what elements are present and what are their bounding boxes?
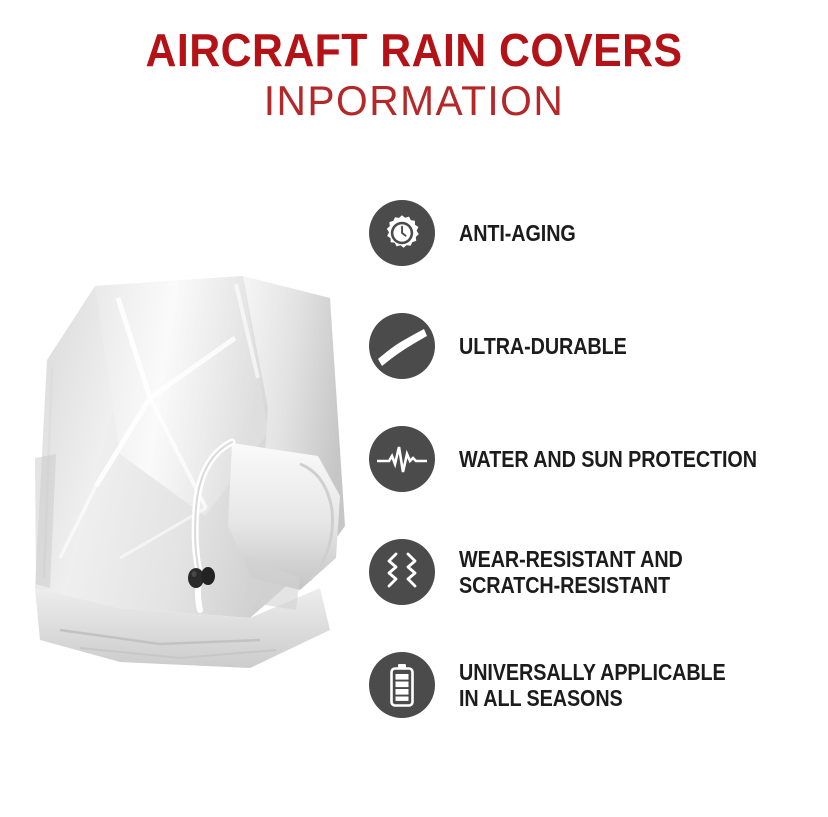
feature-item: ULTRA-DURABLE bbox=[369, 313, 809, 426]
feature-label-line: IN ALL SEASONS bbox=[459, 685, 726, 711]
feature-list: ANTI-AGING ULTRA-DURABLE WATER AND SUN P… bbox=[369, 200, 809, 765]
page-title: AIRCRAFT RAIN COVERS bbox=[29, 0, 799, 74]
feature-label-line: WATER AND SUN PROTECTION bbox=[459, 446, 757, 472]
feature-label: WEAR-RESISTANT AND SCRATCH-RESISTANT bbox=[459, 539, 683, 605]
battery-icon bbox=[369, 652, 435, 718]
feature-label-line: ANTI-AGING bbox=[459, 220, 576, 246]
feature-label-line: ULTRA-DURABLE bbox=[459, 333, 627, 359]
feature-item: UNIVERSALLY APPLICABLE IN ALL SEASONS bbox=[369, 652, 809, 765]
feature-label: WATER AND SUN PROTECTION bbox=[459, 426, 757, 492]
feature-item: ANTI-AGING bbox=[369, 200, 809, 313]
header: AIRCRAFT RAIN COVERS INPORMATION bbox=[0, 0, 828, 124]
product-image bbox=[0, 258, 360, 708]
diagonal-stripe-circle-icon bbox=[369, 313, 435, 379]
feature-label-line: SCRATCH-RESISTANT bbox=[459, 572, 683, 598]
double-zigzag-icon bbox=[369, 539, 435, 605]
pulse-waveform-icon bbox=[369, 426, 435, 492]
feature-label-line: UNIVERSALLY APPLICABLE bbox=[459, 659, 726, 685]
gear-clock-icon bbox=[369, 200, 435, 266]
feature-label: ULTRA-DURABLE bbox=[459, 313, 627, 379]
feature-item: WEAR-RESISTANT AND SCRATCH-RESISTANT bbox=[369, 539, 809, 652]
page-subtitle: INPORMATION bbox=[12, 74, 815, 124]
feature-label-line: WEAR-RESISTANT AND bbox=[459, 546, 683, 572]
feature-item: WATER AND SUN PROTECTION bbox=[369, 426, 809, 539]
feature-label: UNIVERSALLY APPLICABLE IN ALL SEASONS bbox=[459, 652, 726, 718]
feature-label: ANTI-AGING bbox=[459, 200, 576, 266]
